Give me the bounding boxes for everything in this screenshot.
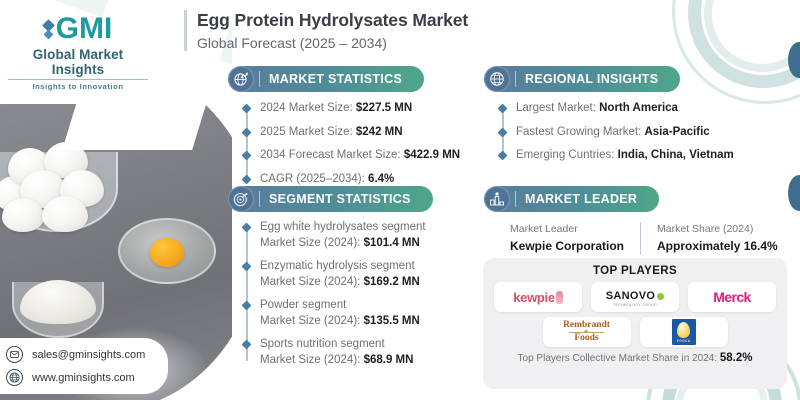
list-item: Emerging Cuntries: India, China, Vietnam xyxy=(516,148,734,164)
region-value: North America xyxy=(599,102,678,114)
section-market-statistics: MARKET STATISTICS 2024 Market Size: $227… xyxy=(228,66,460,187)
market-leader-value: Kewpie Corporation xyxy=(510,238,624,255)
list-item: Fastest Growing Market: Asia-Pacific xyxy=(516,125,734,141)
eggca-logo-text: EGGCA xyxy=(677,339,690,343)
eggca-logo-mark: EGGCA xyxy=(672,319,696,345)
brand-logo: GMI Global Market Insights Insights to I… xyxy=(8,14,148,91)
market-share-label: Market Share (2024) xyxy=(657,222,778,238)
contact-email: sales@gminsights.com xyxy=(32,349,145,361)
kewpie-logo[interactable]: kewpie xyxy=(494,282,582,312)
page-title: Egg Protein Hydrolysates Market xyxy=(197,10,468,32)
logo-gmi-text: GMI xyxy=(56,14,113,44)
stat-value: $227.5 MN xyxy=(356,102,412,114)
egg xyxy=(2,198,44,232)
page-subtitle: Global Forecast (2025 – 2034) xyxy=(197,35,468,51)
eggca-logo[interactable]: EGGCA xyxy=(640,317,728,347)
region-label: Fastest Growing Market: xyxy=(516,126,641,138)
market-leader-details: Market Leader Kewpie Corporation Market … xyxy=(510,222,778,255)
segment-name: Powder segment xyxy=(260,298,433,314)
rembrandt-logo-line2: Foods xyxy=(563,334,610,344)
podium-icon xyxy=(484,186,510,212)
section-market-leader: MARKET LEADER Market Leader Kewpie Corpo… xyxy=(484,186,778,255)
section-label: REGIONAL INSIGHTS xyxy=(525,72,658,86)
collective-share-value: 58.2% xyxy=(720,352,753,364)
collective-share-label: Top Players Collective Market Share in 2… xyxy=(518,353,718,364)
section-segment-statistics: SEGMENT STATISTICS Egg white hydrolysate… xyxy=(228,186,433,368)
regional-insights-list: Largest Market: North America Fastest Gr… xyxy=(500,101,734,164)
logo-diamond-icon xyxy=(44,21,53,38)
region-value: Asia-Pacific xyxy=(644,126,709,138)
logo-company-name: Global Market Insights xyxy=(8,47,148,80)
rembrandt-foods-logo[interactable]: Rembrandt Foods xyxy=(543,317,631,347)
contact-website: www.gminsights.com xyxy=(32,372,135,384)
market-leader-header: MARKET LEADER xyxy=(484,186,659,212)
market-leader-column: Market Leader Kewpie Corporation xyxy=(510,222,624,255)
target-arrow-icon xyxy=(228,186,254,212)
region-value: India, China, Vietnam xyxy=(618,149,734,161)
top-players-footer: Top Players Collective Market Share in 2… xyxy=(493,352,777,364)
merck-logo[interactable]: Merck xyxy=(688,282,776,312)
list-item: Largest Market: North America xyxy=(516,101,734,117)
top-players-row-1: kewpie SANOVO TECHNOLOGY GROUP Merck xyxy=(493,282,777,312)
logo-tagline: Insights to Innovation xyxy=(8,82,148,91)
top-players-row-2: Rembrandt Foods EGGCA xyxy=(493,317,777,347)
infographic-page: GMI Global Market Insights Insights to I… xyxy=(0,0,800,400)
page-title-block: Egg Protein Hydrolysates Market Global F… xyxy=(184,10,468,51)
egg xyxy=(42,196,88,232)
kewpie-logo-text: kewpie xyxy=(513,290,555,305)
sanovo-logo-text: SANOVO xyxy=(606,291,655,302)
pill-separator xyxy=(259,71,260,87)
pill-separator xyxy=(259,191,260,207)
segment-name: Egg white hydrolysates segment xyxy=(260,220,433,236)
stat-label: 2025 Market Size: xyxy=(260,126,353,138)
list-item: CAGR (2025–2034): 6.4% xyxy=(260,172,460,188)
merck-logo-text: Merck xyxy=(713,289,750,305)
region-label: Emerging Cuntries: xyxy=(516,149,614,161)
pill-separator xyxy=(515,191,516,207)
segment-statistics-list: Egg white hydrolysates segment Market Si… xyxy=(244,220,433,368)
market-statistics-header: MARKET STATISTICS xyxy=(228,66,424,92)
stat-label: 2024 Market Size: xyxy=(260,102,353,114)
decor-dot-bottom xyxy=(788,175,800,211)
list-item: 2034 Forecast Market Size: $422.9 MN xyxy=(260,148,460,164)
stat-value: $422.9 MN xyxy=(404,149,460,161)
list-item: 2024 Market Size: $227.5 MN xyxy=(260,101,460,117)
segment-label: Market Size (2024): xyxy=(260,237,360,249)
regional-insights-header: REGIONAL INSIGHTS xyxy=(484,66,680,92)
globe-icon xyxy=(6,369,23,386)
market-share-column: Market Share (2024) Approximately 16.4% xyxy=(640,222,778,255)
segment-value: $135.5 MN xyxy=(364,315,420,327)
segment-label: Market Size (2024): xyxy=(260,315,360,327)
market-share-value: Approximately 16.4% xyxy=(657,238,778,255)
section-label: SEGMENT STATISTICS xyxy=(269,192,411,206)
segment-name: Enzymatic hydrolysis segment xyxy=(260,259,433,275)
kewpie-mascot-icon xyxy=(556,291,563,304)
list-item: Sports nutrition segment Market Size (20… xyxy=(260,337,433,368)
diamond-shape xyxy=(43,29,53,39)
rembrandt-divider xyxy=(569,332,604,333)
list-item: Powder segment Market Size (2024): $135.… xyxy=(260,298,433,329)
logo-mark-row: GMI xyxy=(8,14,148,44)
top-players-panel: TOP PLAYERS kewpie SANOVO TECHNOLOGY GRO… xyxy=(483,258,787,389)
sanovo-logo[interactable]: SANOVO TECHNOLOGY GROUP xyxy=(591,282,679,312)
market-statistics-list: 2024 Market Size: $227.5 MN 2025 Market … xyxy=(244,101,460,187)
stat-label: CAGR (2025–2034): xyxy=(260,173,365,185)
segment-value: $68.9 MN xyxy=(364,354,414,366)
list-item: Enzymatic hydrolysis segment Market Size… xyxy=(260,259,433,290)
segment-label: Market Size (2024): xyxy=(260,276,360,288)
contact-website-row[interactable]: www.gminsights.com xyxy=(6,369,158,386)
section-regional-insights: REGIONAL INSIGHTS Largest Market: North … xyxy=(484,66,734,164)
section-label: MARKET LEADER xyxy=(525,192,637,206)
contact-email-row[interactable]: sales@gminsights.com xyxy=(6,346,158,363)
top-players-title: TOP PLAYERS xyxy=(493,265,777,277)
segment-value: $101.4 MN xyxy=(364,237,420,249)
market-leader-label: Market Leader xyxy=(510,222,624,238)
globe-icon xyxy=(484,66,510,92)
contact-block: sales@gminsights.com www.gminsights.com xyxy=(0,338,168,394)
segment-value: $169.2 MN xyxy=(364,276,420,288)
segment-name: Sports nutrition segment xyxy=(260,337,433,353)
sanovo-logo-subtitle: TECHNOLOGY GROUP xyxy=(606,304,664,308)
stat-value: 6.4% xyxy=(368,173,394,185)
stat-value: $242 MN xyxy=(356,126,403,138)
sanovo-dot-icon xyxy=(657,293,664,300)
globe-chart-icon xyxy=(228,66,254,92)
section-label: MARKET STATISTICS xyxy=(269,72,402,86)
list-item: 2025 Market Size: $242 MN xyxy=(260,125,460,141)
stat-label: 2034 Forecast Market Size: xyxy=(260,149,401,161)
list-item: Egg white hydrolysates segment Market Si… xyxy=(260,220,433,251)
envelope-icon xyxy=(6,346,23,363)
region-label: Largest Market: xyxy=(516,102,596,114)
egg-yolk xyxy=(150,238,184,267)
egg-icon xyxy=(677,322,690,338)
segment-label: Market Size (2024): xyxy=(260,354,360,366)
segment-statistics-header: SEGMENT STATISTICS xyxy=(228,186,433,212)
pill-separator xyxy=(515,71,516,87)
